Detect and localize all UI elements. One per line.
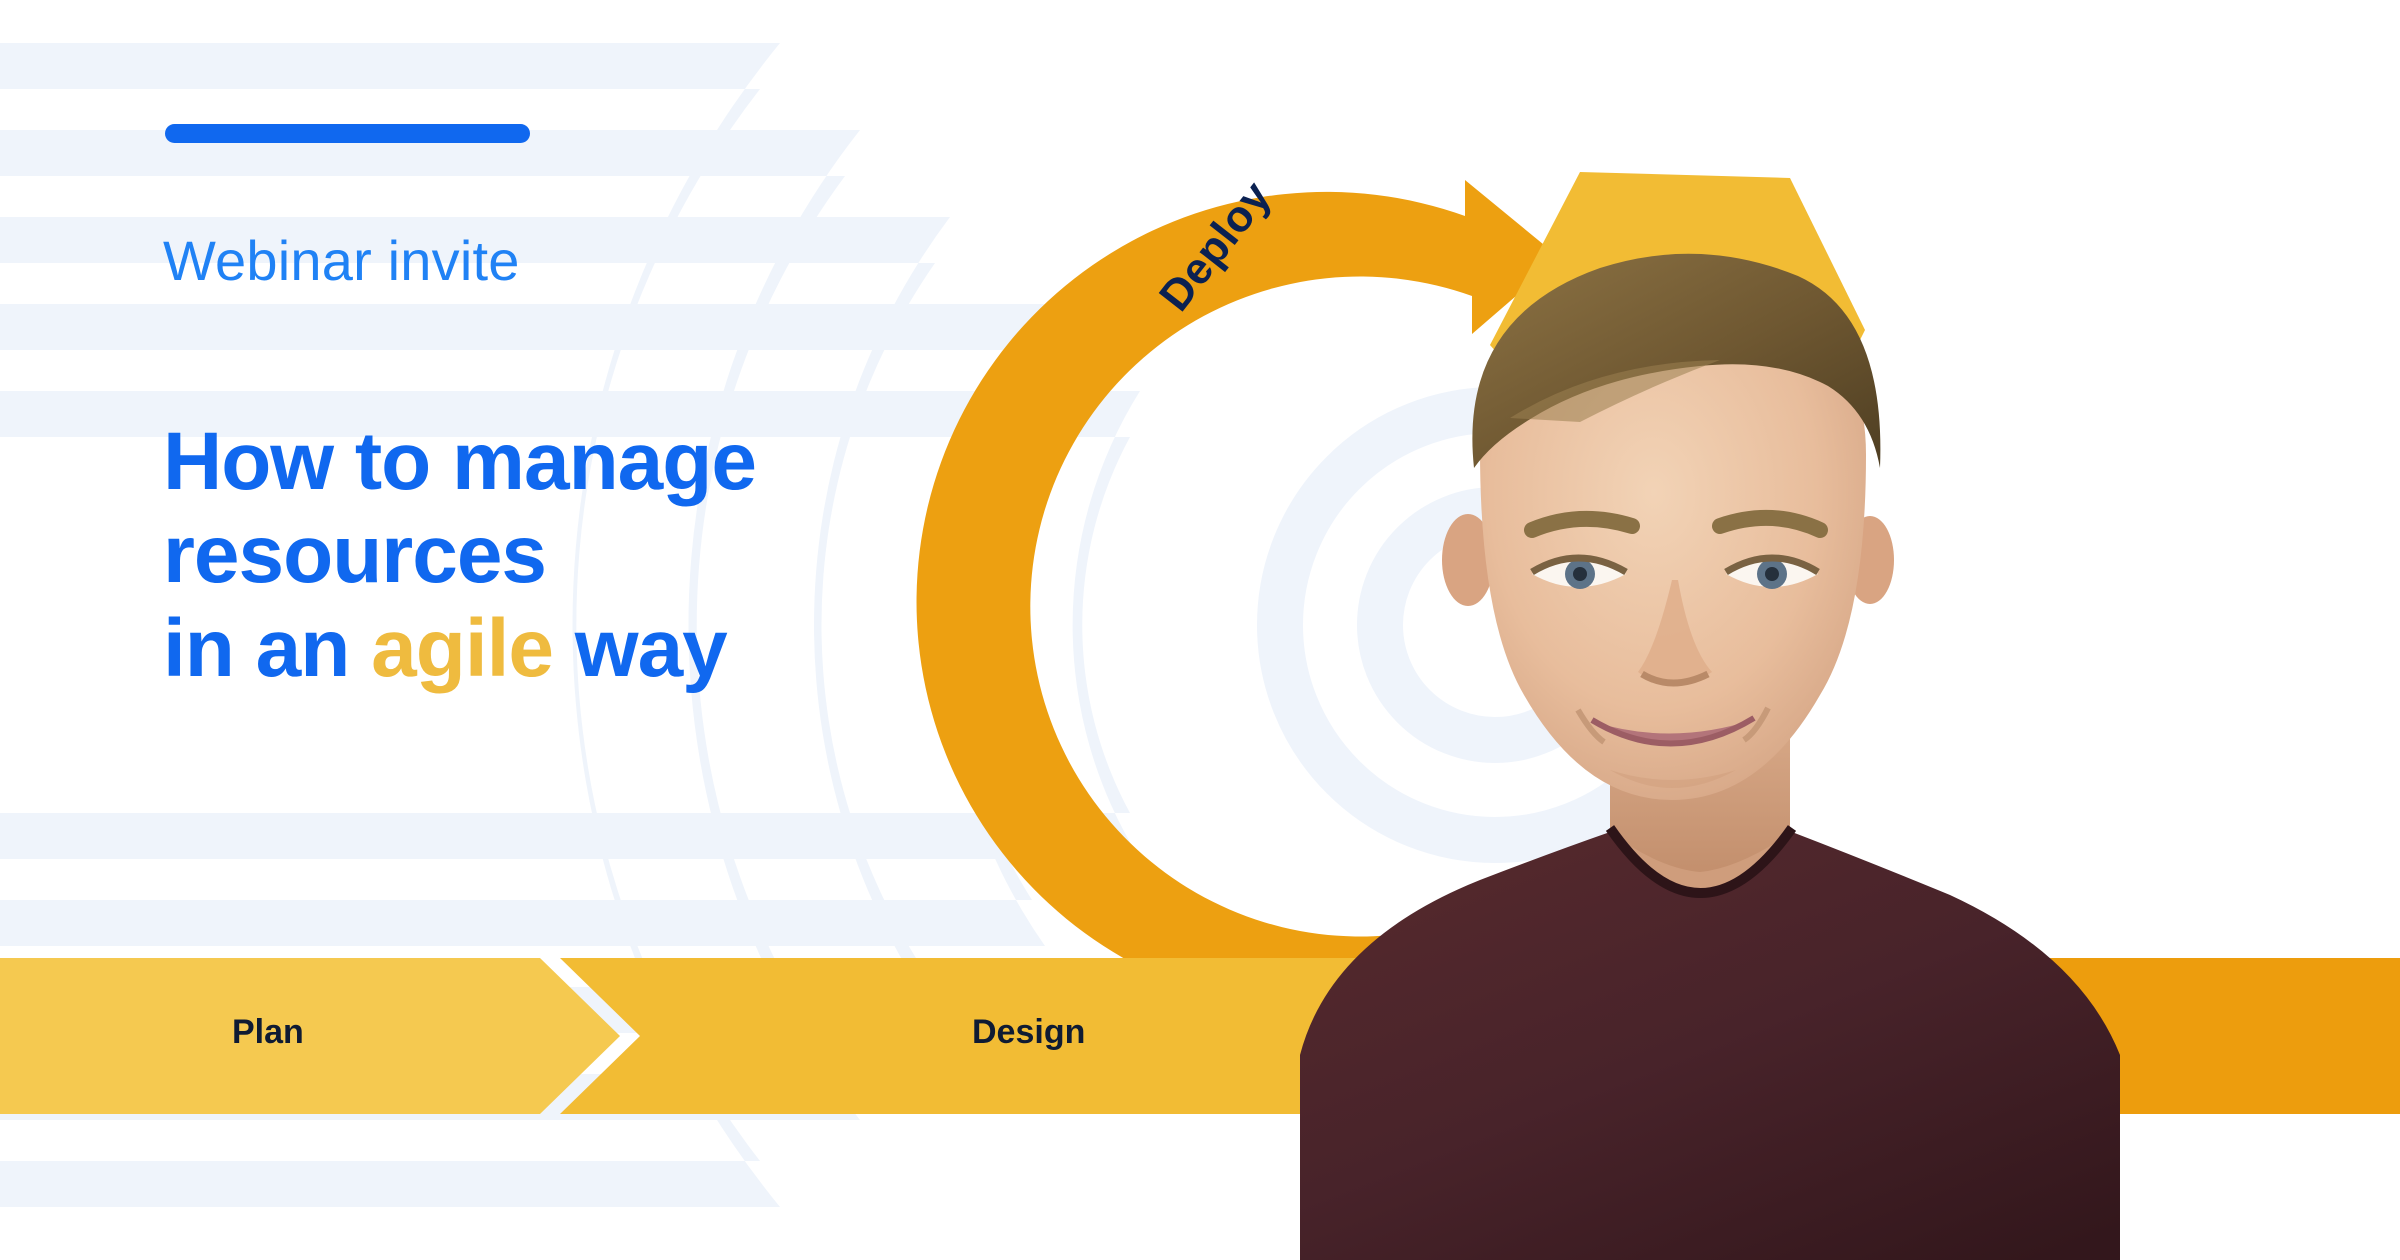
eyebrow-text: Webinar invite: [163, 230, 520, 292]
headline-line-3: in an agile way: [163, 602, 756, 695]
speaker-portrait: [1180, 150, 2400, 1260]
headline-line-2: resources: [163, 508, 756, 601]
banner-label-design: Design: [972, 1013, 1085, 1052]
headline-line-1: How to manage: [163, 415, 756, 508]
banner-canvas: Webinar invite How to manage resources i…: [0, 0, 2400, 1260]
headline-line-3-suffix: way: [553, 603, 727, 694]
banner-segment-plan: [0, 958, 620, 1114]
headline-line-3-prefix: in an: [163, 603, 371, 694]
banner-label-plan: Plan: [232, 1013, 304, 1052]
blue-accent-bar: [165, 124, 530, 143]
portrait-graphic: [1180, 150, 2400, 1260]
page-title: How to manage resources in an agile way: [163, 415, 756, 695]
headline-accent-word: agile: [371, 603, 553, 694]
